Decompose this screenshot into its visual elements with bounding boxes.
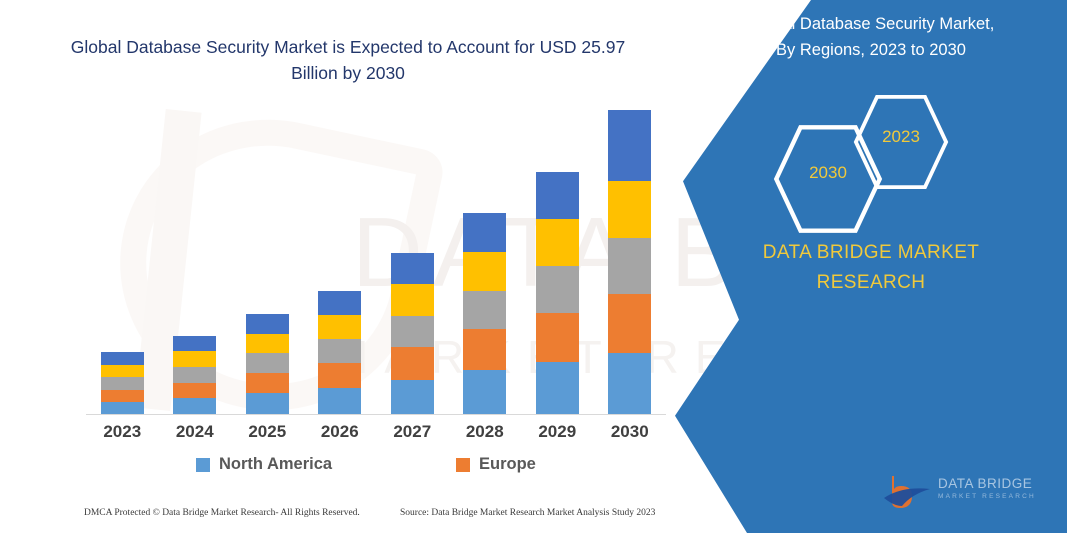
brand-title-line1: Global Database Security Market,: [695, 12, 1047, 38]
legend-label: Europe: [479, 455, 536, 474]
bar-segment-asia-pacific[interactable]: [608, 238, 651, 293]
brand-name-line1: DATA BRIDGE MARKET: [695, 238, 1047, 268]
bar-segment-middle-east-and-africa[interactable]: [391, 253, 434, 284]
bar-segment-middle-east-and-africa[interactable]: [101, 352, 144, 365]
footer: DMCA Protected © Data Bridge Market Rese…: [0, 505, 700, 529]
bar-segment-north-america[interactable]: [536, 362, 579, 415]
bar-segment-middle-east-and-africa[interactable]: [608, 110, 651, 181]
bar-segment-middle-east-and-africa[interactable]: [173, 336, 216, 352]
legend-swatch-icon: [456, 458, 470, 472]
bar-segment-asia-pacific[interactable]: [246, 353, 289, 373]
bar-segment-middle-east-and-africa[interactable]: [318, 291, 361, 315]
company-logo: DATA BRIDGE MARKET RESEARCH: [882, 472, 1042, 516]
bar-segment-europe[interactable]: [318, 363, 361, 388]
bar-segment-north-america[interactable]: [318, 388, 361, 415]
bar-segment-north-america[interactable]: [173, 398, 216, 415]
logo-text-line1: DATA BRIDGE: [938, 476, 1042, 491]
bar-segment-asia-pacific[interactable]: [101, 377, 144, 390]
stacked-bar[interactable]: [391, 253, 434, 415]
bar-segment-north-america[interactable]: [608, 353, 651, 415]
bar-segment-south-america[interactable]: [318, 315, 361, 339]
stacked-bar[interactable]: [463, 213, 506, 415]
bar-group-2030[interactable]: [594, 110, 667, 415]
bar-segment-europe[interactable]: [246, 373, 289, 393]
bar-segment-north-america[interactable]: [391, 380, 434, 416]
bar-segment-south-america[interactable]: [463, 252, 506, 291]
chart-legend: North AmericaEurope: [86, 455, 666, 483]
logo-text-line2: MARKET RESEARCH: [938, 493, 1042, 500]
bar-segment-europe[interactable]: [536, 313, 579, 362]
bar-group-2024[interactable]: [159, 110, 232, 415]
bar-segment-asia-pacific[interactable]: [318, 339, 361, 363]
x-axis-label-2027: 2027: [376, 422, 449, 442]
bar-segment-south-america[interactable]: [246, 334, 289, 354]
stacked-bar[interactable]: [246, 314, 289, 415]
chart-plot-area: [86, 110, 666, 415]
bar-segment-south-america[interactable]: [608, 181, 651, 238]
bar-segment-europe[interactable]: [463, 329, 506, 370]
bar-group-2027[interactable]: [376, 110, 449, 415]
footer-source-note: Source: Data Bridge Market Research Mark…: [400, 508, 655, 518]
stacked-bar[interactable]: [101, 352, 144, 415]
hex-badge-2023: 2023: [853, 94, 949, 180]
hex-badge-group: 2030 2023: [737, 92, 1037, 207]
bar-segment-europe[interactable]: [608, 294, 651, 354]
legend-item-europe[interactable]: Europe: [456, 455, 536, 474]
bar-segment-middle-east-and-africa[interactable]: [463, 213, 506, 252]
bar-segment-asia-pacific[interactable]: [391, 316, 434, 347]
bar-segment-asia-pacific[interactable]: [463, 291, 506, 330]
x-axis-label-2028: 2028: [449, 422, 522, 442]
bar-segment-north-america[interactable]: [463, 370, 506, 415]
x-axis-label-2023: 2023: [86, 422, 159, 442]
x-axis-label-2030: 2030: [594, 422, 667, 442]
bar-segment-europe[interactable]: [173, 383, 216, 399]
legend-label: North America: [219, 455, 332, 474]
bar-group-2025[interactable]: [231, 110, 304, 415]
x-axis-label-2025: 2025: [231, 422, 304, 442]
bar-segment-south-america[interactable]: [101, 365, 144, 378]
bar-segment-asia-pacific[interactable]: [536, 266, 579, 313]
bar-segment-south-america[interactable]: [173, 351, 216, 367]
bar-segment-asia-pacific[interactable]: [173, 367, 216, 383]
legend-swatch-icon: [196, 458, 210, 472]
chart-panel: Global Database Security Market is Expec…: [0, 0, 740, 533]
hex-badge-2030-label: 2030: [809, 163, 847, 183]
chart-baseline: [86, 414, 666, 415]
brand-panel-title: Global Database Security Market, By Regi…: [695, 12, 1047, 63]
stacked-bar[interactable]: [318, 291, 361, 415]
bar-group-2029[interactable]: [521, 110, 594, 415]
footer-dmca-notice: DMCA Protected © Data Bridge Market Rese…: [84, 508, 360, 518]
stacked-bar[interactable]: [536, 172, 579, 415]
brand-title-line2: By Regions, 2023 to 2030: [695, 38, 1047, 64]
bar-segment-north-america[interactable]: [246, 393, 289, 415]
legend-item-north-america[interactable]: North America: [196, 455, 332, 474]
chart-x-axis: 20232024202520262027202820292030: [86, 422, 666, 450]
bar-segment-south-america[interactable]: [391, 284, 434, 315]
bar-group-2023[interactable]: [86, 110, 159, 415]
bar-segment-europe[interactable]: [391, 347, 434, 379]
brand-name-line2: RESEARCH: [695, 268, 1047, 298]
bar-segment-south-america[interactable]: [536, 219, 579, 266]
bar-segment-middle-east-and-africa[interactable]: [246, 314, 289, 334]
stacked-bar[interactable]: [608, 110, 651, 415]
x-axis-label-2024: 2024: [159, 422, 232, 442]
bar-segment-middle-east-and-africa[interactable]: [536, 172, 579, 219]
brand-name: DATA BRIDGE MARKET RESEARCH: [695, 238, 1047, 299]
hex-badge-2023-label: 2023: [882, 127, 920, 147]
bar-group-2028[interactable]: [449, 110, 522, 415]
bar-segment-europe[interactable]: [101, 390, 144, 403]
data-bridge-logo-icon: [882, 472, 934, 512]
x-axis-label-2026: 2026: [304, 422, 377, 442]
bar-group-2026[interactable]: [304, 110, 377, 415]
stacked-bar[interactable]: [173, 336, 216, 415]
logo-text: DATA BRIDGE MARKET RESEARCH: [938, 476, 1042, 500]
x-axis-label-2029: 2029: [521, 422, 594, 442]
chart-title: Global Database Security Market is Expec…: [56, 34, 640, 87]
